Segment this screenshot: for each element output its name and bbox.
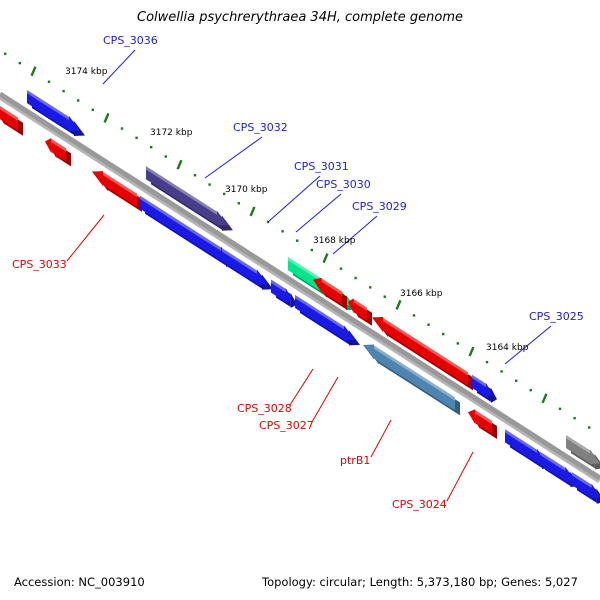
scale-tick-dot — [530, 389, 532, 391]
scale-tick-dot — [238, 202, 240, 204]
gene-label-CPS_3025[interactable]: CPS_3025 — [529, 310, 584, 323]
page-title: Colwellia psychrerythraea 34H, complete … — [137, 10, 463, 25]
scale-tick-dot — [384, 296, 386, 298]
genome-map-canvas[interactable]: Colwellia psychrerythraea 34H, complete … — [0, 0, 600, 600]
scale-tick-dot — [62, 90, 64, 92]
scale-tick-dot — [194, 174, 196, 176]
scale-tick-dot — [515, 380, 517, 382]
coordinate-label: 3174 kbp — [65, 67, 108, 77]
coordinate-label: 3164 kbp — [486, 343, 529, 353]
scale-tick-dot — [369, 286, 371, 288]
genome-stats-label: Topology: circular; Length: 5,373,180 bp… — [261, 575, 578, 589]
scale-tick-dot — [500, 370, 502, 372]
scale-tick-dot — [588, 426, 590, 428]
genome-map-viewer[interactable]: Colwellia psychrerythraea 34H, complete … — [0, 0, 600, 600]
scale-tick-dot — [311, 249, 313, 251]
scale-tick-dot — [4, 53, 6, 55]
scale-tick-dot — [354, 277, 356, 279]
scale-tick-dot — [296, 239, 298, 241]
scale-tick-dot — [77, 99, 79, 101]
scale-tick-dot — [19, 62, 21, 64]
gene-label-CPS_3031[interactable]: CPS_3031 — [294, 160, 349, 173]
coordinate-label: 3168 kbp — [313, 236, 356, 246]
accession-label: Accession: NC_003910 — [14, 575, 145, 589]
coordinate-label: 3172 kbp — [150, 128, 193, 138]
gene-label-CPS_3030[interactable]: CPS_3030 — [316, 178, 371, 191]
scale-tick-dot — [486, 361, 488, 363]
scale-tick-dot — [442, 333, 444, 335]
gene-label-CPS_3028[interactable]: CPS_3028 — [237, 402, 292, 415]
scale-tick-dot — [340, 267, 342, 269]
gene-label-CPS_3029[interactable]: CPS_3029 — [352, 200, 407, 213]
scale-tick-dot — [559, 408, 561, 410]
scale-tick-dot — [457, 342, 459, 344]
scale-tick-dot — [281, 230, 283, 232]
scale-tick-dot — [92, 109, 94, 111]
scale-tick-dot — [413, 314, 415, 316]
scale-tick-dot — [573, 417, 575, 419]
scale-tick-dot — [135, 137, 137, 139]
scale-tick-dot — [208, 183, 210, 185]
gene-label-CPS_3024[interactable]: CPS_3024 — [392, 498, 447, 511]
coordinate-label: 3170 kbp — [225, 185, 268, 195]
scale-tick-dot — [150, 146, 152, 148]
scale-tick-dot — [121, 127, 123, 129]
scale-tick-dot — [427, 324, 429, 326]
gene-label-CPS_3027[interactable]: CPS_3027 — [259, 419, 314, 432]
gene-label-CPS_3036[interactable]: CPS_3036 — [103, 34, 158, 47]
scale-tick-dot — [165, 155, 167, 157]
scale-tick-dot — [48, 81, 50, 83]
gene-label-ptrB1[interactable]: ptrB1 — [340, 454, 370, 467]
coordinate-label: 3166 kbp — [400, 289, 443, 299]
gene-label-CPS_3032[interactable]: CPS_3032 — [233, 121, 288, 134]
gene-label-CPS_3033[interactable]: CPS_3033 — [12, 258, 67, 271]
